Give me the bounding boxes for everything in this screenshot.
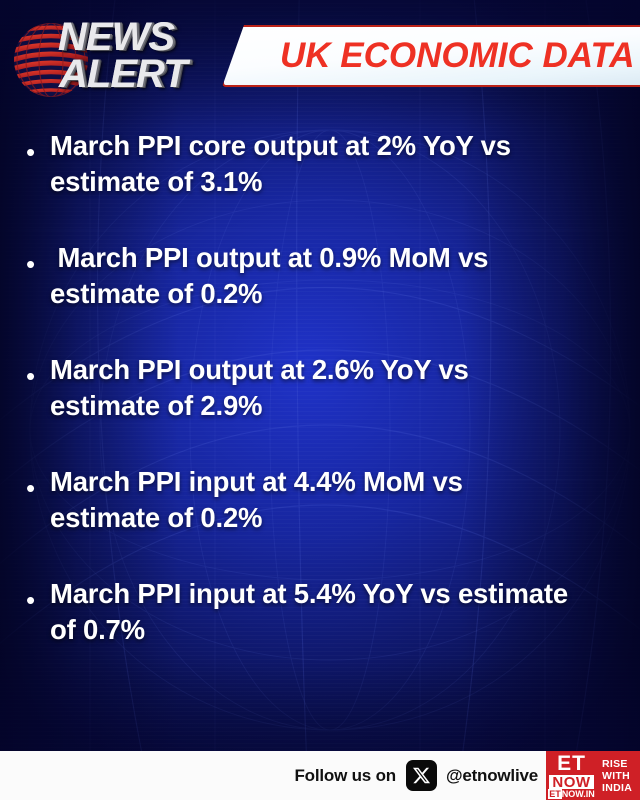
tagline-line-2: WITH (602, 770, 640, 782)
list-item: • March PPI input at 5.4% YoY vs estimat… (26, 576, 614, 674)
x-glyph (412, 766, 431, 785)
logo-line-1: NEWS (58, 19, 187, 56)
headline-banner-title: UK ECONOMIC DATA (222, 25, 640, 87)
bullet-text: March PPI input at 4.4% MoM vs estimate … (50, 464, 614, 562)
list-item: • March PPI output at 2.6% YoY vs estima… (26, 352, 614, 450)
bullet-text: March PPI input at 5.4% YoY vs estimate … (50, 576, 614, 674)
news-alert-wordmark: NEWS ALERT (58, 19, 187, 93)
bullet-marker-icon: • (26, 352, 50, 450)
bullet-text: March PPI output at 0.9% MoM vs estimate… (50, 240, 614, 338)
list-item: • March PPI input at 4.4% MoM vs estimat… (26, 464, 614, 562)
bullet-text: March PPI core output at 2% YoY vs estim… (50, 128, 614, 226)
etnow-site-prefix: ET (548, 789, 562, 799)
headline-banner: UK ECONOMIC DATA (222, 25, 640, 87)
header: NEWS ALERT UK ECONOMIC DATA (0, 0, 640, 118)
bullet-marker-icon: • (26, 240, 50, 338)
etnow-logo[interactable]: ET NOW ETNOW.IN RISE WITH INDIA (546, 751, 640, 800)
etnow-logo-mark: ET NOW ETNOW.IN (546, 751, 597, 800)
list-item: • March PPI output at 0.9% MoM vs estima… (26, 240, 614, 338)
etnow-et-text: ET (549, 754, 594, 774)
logo-line-2: ALERT (58, 56, 187, 93)
x-twitter-icon[interactable] (406, 760, 437, 791)
tagline-line-1: RISE (602, 758, 640, 770)
social-handle[interactable]: @etnowlive (446, 766, 538, 786)
etnow-site-suffix: NOW.IN (562, 789, 595, 799)
bullet-marker-icon: • (26, 128, 50, 226)
list-item: • March PPI core output at 2% YoY vs est… (26, 128, 614, 226)
news-bullet-list: • March PPI core output at 2% YoY vs est… (0, 128, 640, 738)
etnow-website-strip: ETNOW.IN (546, 789, 597, 800)
footer-bar: Follow us on @etnowlive ET NOW ETNOW.IN … (0, 751, 640, 800)
follow-us-label: Follow us on (294, 766, 395, 786)
bullet-marker-icon: • (26, 576, 50, 674)
etnow-tagline: RISE WITH INDIA (597, 751, 640, 800)
bullet-marker-icon: • (26, 464, 50, 562)
tagline-line-3: INDIA (602, 782, 640, 794)
bullet-text: March PPI output at 2.6% YoY vs estimate… (50, 352, 614, 450)
news-alert-logo: NEWS ALERT (8, 8, 198, 110)
